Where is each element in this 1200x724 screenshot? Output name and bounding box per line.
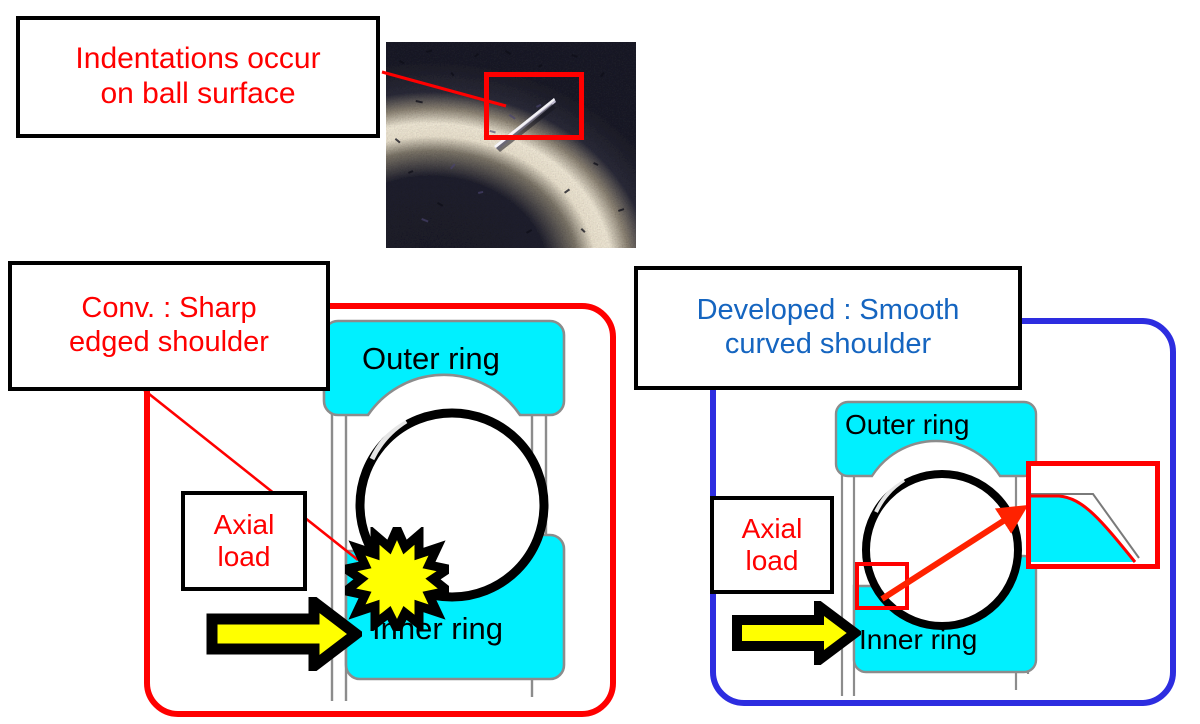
callout-developed-line2: curved shoulder (725, 328, 931, 360)
callout-developed-title: Developed : Smooth curved shoulder (634, 266, 1022, 390)
label-outer-ring-conventional: Outer ring (362, 341, 500, 377)
callout-conventional-title: Conv. : Sharp edged shoulder (8, 261, 330, 391)
callout-developed-text: Developed : Smooth curved shoulder (697, 294, 960, 361)
shoulder-profile-inset (1026, 461, 1160, 569)
axial-load-left-line1: Axial (214, 509, 275, 540)
axial-load-right-line1: Axial (742, 513, 803, 544)
callout-indentations-line1: Indentations occur (75, 42, 320, 75)
callout-axial-load-conventional-text: Axial load (214, 509, 275, 574)
axial-load-left-line2: load (218, 541, 271, 572)
shoulder-profile-drawing (1031, 466, 1155, 564)
callout-conventional-line1: Conv. : Sharp (81, 292, 256, 324)
indentation-roi-box (484, 72, 584, 140)
callout-conventional-text: Conv. : Sharp edged shoulder (69, 292, 269, 359)
detail-zoom-arrow (880, 495, 1040, 605)
axial-load-right-line2: load (746, 545, 799, 576)
callout-axial-load-developed: Axial load (710, 496, 834, 594)
callout-axial-load-conventional: Axial load (181, 491, 307, 591)
callout-developed-line1: Developed : Smooth (697, 294, 960, 326)
axial-load-arrow-developed (731, 601, 861, 665)
label-inner-ring-developed: Inner ring (859, 624, 977, 656)
ball-surface-micrograph (386, 42, 636, 248)
figure-canvas: Indentations occur on ball surface (0, 0, 1200, 724)
label-outer-ring-developed: Outer ring (845, 409, 970, 441)
callout-axial-load-developed-text: Axial load (742, 513, 803, 578)
callout-indentations: Indentations occur on ball surface (16, 16, 380, 138)
callout-conventional-line2: edged shoulder (69, 326, 269, 358)
callout-indentations-line2: on ball surface (100, 77, 295, 110)
stress-starburst-icon (345, 527, 449, 631)
callout-indentations-text: Indentations occur on ball surface (75, 42, 320, 112)
axial-load-arrow-conventional (206, 597, 362, 671)
